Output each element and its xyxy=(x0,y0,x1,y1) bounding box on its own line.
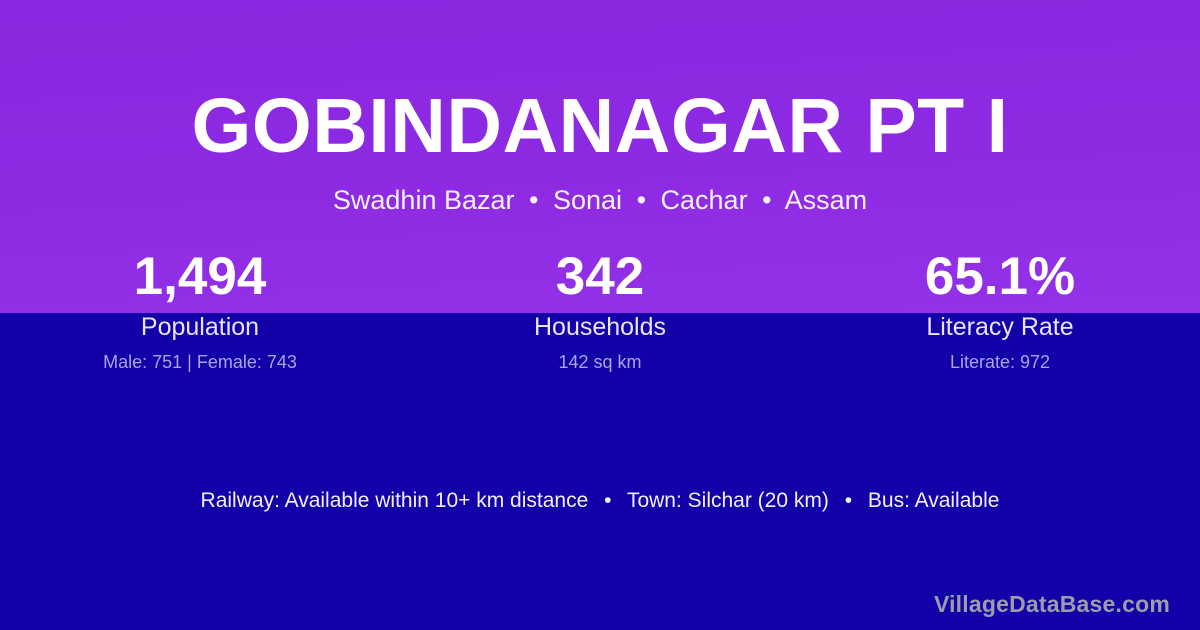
breadcrumb-separator-icon: • xyxy=(630,183,653,217)
breadcrumb-part-state: Assam xyxy=(785,185,868,215)
connectivity-info-line: Railway: Available within 10+ km distanc… xyxy=(0,487,1200,514)
info-separator-icon: • xyxy=(835,487,862,514)
stats-row: 1,494 Population Male: 751 | Female: 743… xyxy=(0,246,1200,373)
info-item-railway: Railway: Available within 10+ km distanc… xyxy=(201,489,589,512)
site-brand-watermark: VillageDataBase.com xyxy=(934,590,1170,618)
stat-label: Households xyxy=(400,312,800,342)
info-separator-icon: • xyxy=(594,487,621,514)
breadcrumb-part-district: Cachar xyxy=(661,185,748,215)
stat-value: 1,494 xyxy=(0,246,400,308)
stat-value: 65.1% xyxy=(800,246,1200,308)
breadcrumb-part-village: Swadhin Bazar xyxy=(333,185,515,215)
page-title: GOBINDANAGAR PT I xyxy=(0,84,1200,168)
breadcrumb: Swadhin Bazar • Sonai • Cachar • Assam xyxy=(0,183,1200,217)
stat-households: 342 Households 142 sq km xyxy=(400,246,800,373)
village-info-card: GOBINDANAGAR PT I Swadhin Bazar • Sonai … xyxy=(0,0,1200,630)
breadcrumb-part-block: Sonai xyxy=(553,185,622,215)
info-item-town: Town: Silchar (20 km) xyxy=(627,489,829,512)
stat-sublabel: Literate: 972 xyxy=(800,351,1200,373)
breadcrumb-separator-icon: • xyxy=(522,183,545,217)
stat-label: Literacy Rate xyxy=(800,312,1200,342)
info-item-bus: Bus: Available xyxy=(868,489,1000,512)
stat-label: Population xyxy=(0,312,400,342)
stat-literacy-rate: 65.1% Literacy Rate Literate: 972 xyxy=(800,246,1200,373)
stat-sublabel: Male: 751 | Female: 743 xyxy=(0,351,400,373)
breadcrumb-separator-icon: • xyxy=(755,183,778,217)
stat-sublabel: 142 sq km xyxy=(400,351,800,373)
stat-value: 342 xyxy=(400,246,800,308)
stat-population: 1,494 Population Male: 751 | Female: 743 xyxy=(0,246,400,373)
